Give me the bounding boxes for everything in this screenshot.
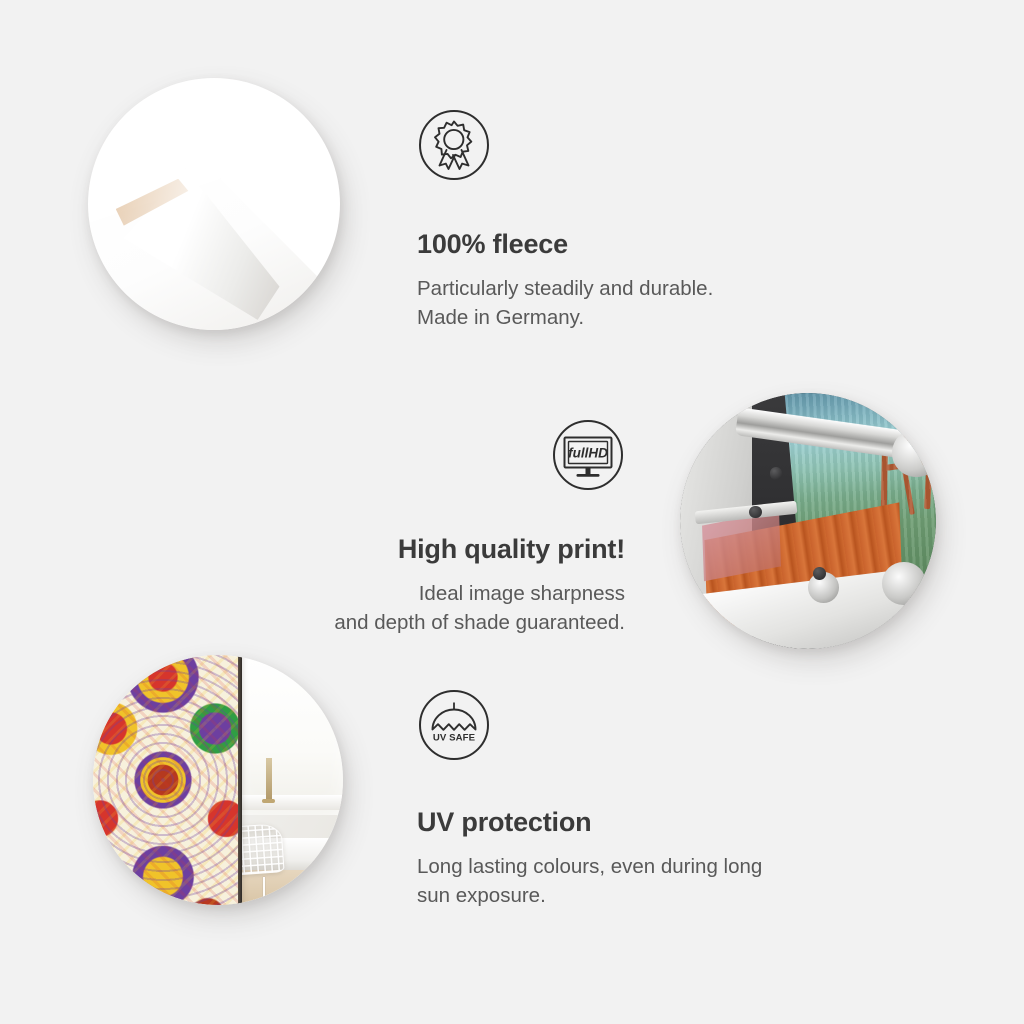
roller-end-cap bbox=[892, 429, 936, 478]
window-sill bbox=[228, 795, 343, 810]
icon-container: fullHD bbox=[265, 418, 625, 492]
bright-window bbox=[233, 655, 343, 815]
mandala-wallpaper-room-photo bbox=[93, 655, 343, 905]
uv-safe-label: UV SAFE bbox=[433, 733, 476, 744]
feature-body: Ideal image sharpness and depth of shade… bbox=[265, 579, 625, 637]
feature-heading: 100% fleece bbox=[417, 229, 837, 260]
feature-infographic: 100% fleece Particularly steadily and du… bbox=[0, 0, 1024, 1024]
feature-block-fleece: 100% fleece Particularly steadily and du… bbox=[417, 108, 837, 332]
roller-end-cap bbox=[882, 562, 926, 606]
wallpaper-panel-edge bbox=[238, 655, 242, 905]
fullhd-label: fullHD bbox=[568, 446, 608, 461]
candlestick bbox=[266, 758, 272, 801]
uv-safe-umbrella-icon: UV SAFE bbox=[417, 688, 491, 762]
chair-leg bbox=[263, 877, 265, 900]
feature-body: Particularly steadily and durable. Made … bbox=[417, 274, 837, 332]
photo-clip bbox=[680, 393, 936, 649]
mandala-wallpaper-panel bbox=[93, 655, 238, 905]
fullhd-monitor-icon: fullHD bbox=[551, 418, 625, 492]
feature-block-print: fullHD High quality print! Ideal image s… bbox=[265, 418, 625, 637]
icon-container: UV SAFE bbox=[417, 688, 847, 762]
photo-clip bbox=[93, 655, 343, 905]
award-rosette-icon bbox=[417, 108, 491, 182]
printing-press-photo bbox=[680, 393, 936, 649]
feature-block-uv: UV SAFE UV protection Long lasting colou… bbox=[417, 688, 847, 910]
feature-heading: High quality print! bbox=[265, 534, 625, 565]
peeling-fleece-wallpaper-photo bbox=[88, 78, 340, 330]
feature-heading: UV protection bbox=[417, 807, 847, 838]
feature-body: Long lasting colours, even during long s… bbox=[417, 852, 847, 910]
photo-clip bbox=[88, 78, 340, 330]
icon-container bbox=[417, 108, 837, 182]
press-knob bbox=[813, 567, 826, 580]
